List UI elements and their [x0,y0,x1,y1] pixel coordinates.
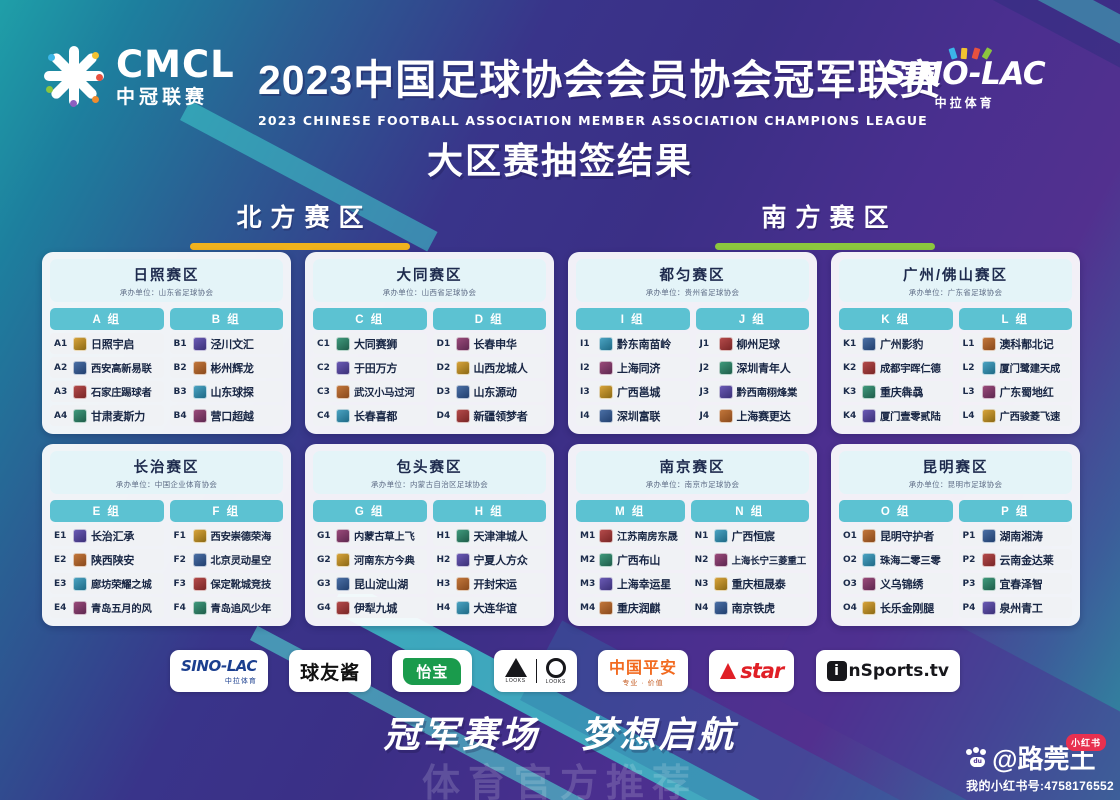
group-columns: K 组K1广州影豹K2成都宇晖仁德K3重庆犇骉K4厦门壹零贰陆L 组L1澳科郬北… [839,308,1072,426]
team-name: 重庆桓晟泰 [732,576,786,592]
team-code: D2 [437,363,452,373]
poster-title-block: 2023中国足球协会会员协会冠军联赛 2023 CHINESE FOOTBALL… [258,46,868,128]
team-crest-icon [982,409,996,423]
team-row[interactable]: D3山东源动 [433,381,547,402]
team-code: B2 [174,363,189,373]
group-header: N 组 [691,500,809,522]
team-code: E1 [54,531,69,541]
team-crest-icon [862,337,876,351]
team-name: 广西邕城 [617,384,660,400]
team-name: 广西恒宸 [732,528,775,544]
team-crest-icon [982,577,996,591]
team-name: 青岛追风少年 [211,600,272,615]
team-name: 成都宇晖仁德 [880,360,941,375]
team-code: J2 [700,363,715,373]
venue-card-header: 南京赛区承办单位：南京市足球协会 [576,451,809,494]
team-code: L4 [963,411,978,421]
team-name: 山东源动 [474,384,517,400]
team-crest-icon [862,385,876,399]
venue-host-label: 承办单位：中国企业体育协会 [54,479,279,490]
team-name: 大同赛狮 [354,336,397,352]
group-columns: E 组E1长治汇承E2陕西陕安E3廊坊荣耀之城E4青岛五月的风F 组F1西安崇德… [50,500,283,618]
team-name: 长春申华 [474,336,517,352]
group-header: I 组 [576,308,690,330]
team-crest-icon [456,553,470,567]
team-name: 江苏南房东晟 [617,528,678,543]
team-name: 重庆润麒 [617,600,660,616]
team-code: G2 [317,555,332,565]
team-row[interactable]: H2宁夏人方众 [433,549,547,570]
team-name: 开封宋运 [474,576,517,592]
team-row[interactable]: M1江苏南房东晟 [576,525,685,546]
team-name: 上海幸运星 [617,576,671,592]
venue-title: 都匀赛区 [580,264,805,285]
watermark-account: 我的小红书号:4758176552 [966,777,1114,794]
team-row[interactable]: N4南京铁虎 [691,597,809,618]
team-row[interactable]: N1广西恒宸 [691,525,809,546]
team-name: 营口超越 [211,408,254,424]
team-code: H1 [437,531,452,541]
group-header: G 组 [313,500,427,522]
team-crest-icon [719,361,733,375]
group-column: J 组J1柳州足球J2深圳青年人J3黔西南栩烽棠J4上海赛更达 [696,308,810,426]
team-code: L2 [963,363,978,373]
team-name: 西安高新易联 [91,360,152,375]
team-crest-icon [193,361,207,375]
team-code: K4 [843,411,858,421]
team-code: J4 [700,411,715,421]
team-crest-icon [982,553,996,567]
team-row[interactable]: J4上海赛更达 [696,405,810,426]
team-name: 柳州足球 [737,336,780,352]
sponsor-logo-pingan[interactable]: 中国平安 专业 · 价值 [598,650,688,692]
group-header: H 组 [433,500,547,522]
team-crest-icon [599,361,613,375]
group-column: P 组P1湖南湘涛P2云南金达莱P3宜春泽智P4泉州青工 [959,500,1073,618]
team-name: 石家庄踢球者 [91,384,152,399]
team-code: H4 [437,603,452,613]
team-code: G4 [317,603,332,613]
sponsor-pingan-tagline: 专业 · 价值 [609,678,677,688]
group-header: E 组 [50,500,164,522]
team-name: 上海长宁三菱重工 [732,553,806,567]
poster-header: CMCL 中冠联赛 2023中国足球协会会员协会冠军联赛 2023 CHINES… [0,0,1120,128]
team-row[interactable]: P4泉州青工 [959,597,1073,618]
team-name: 长治汇承 [91,528,134,544]
team-name: 河南东方今典 [354,552,415,567]
team-code: A4 [54,411,69,421]
sponsor-logo-looks[interactable]: LOOKS LOOKS [494,650,577,692]
team-name: 厦门鹭建天成 [1000,360,1061,375]
team-row[interactable]: O2珠海二零三零 [839,549,953,570]
cmcl-league-logo: CMCL 中冠联赛 [42,44,235,108]
team-row[interactable]: E3廊坊荣耀之城 [50,573,164,594]
ghost-text: 体育官方推荐 [0,752,1120,800]
team-code: B3 [174,387,189,397]
sponsor-qiuyoujiang-label: 球友酱 [300,658,360,685]
sponsor-logo-insports[interactable]: i nSports.tv [816,650,961,692]
team-crest-icon [456,385,470,399]
team-code: E2 [54,555,69,565]
team-row[interactable]: K4厦门壹零贰陆 [839,405,953,426]
venue-card-header: 昆明赛区承办单位：昆明市足球协会 [839,451,1072,494]
team-code: P3 [963,579,978,589]
team-crest-icon [73,601,87,615]
team-code: O3 [843,579,858,589]
venue-card: 包头赛区承办单位：内蒙古自治区足球协会G 组G1内蒙古草上飞G2河南东方今典G3… [305,444,554,626]
team-name: 黔西南栩烽棠 [737,384,798,399]
team-row[interactable]: L1澳科郬北记 [959,333,1073,354]
region-underline-north [190,243,410,250]
team-name: 新疆领梦者 [474,408,528,424]
group-column: E 组E1长治汇承E2陕西陕安E3廊坊荣耀之城E4青岛五月的风 [50,500,164,618]
venue-card-header: 都匀赛区承办单位：贵州省足球协会 [576,259,809,302]
team-row[interactable]: L3广东蜀地红 [959,381,1073,402]
team-row[interactable]: O3义乌锦绣 [839,573,953,594]
team-row[interactable]: H3开封宋运 [433,573,547,594]
team-name: 宜春泽智 [1000,576,1043,592]
paw-icon: du [966,749,988,767]
team-name: 宁夏人方众 [474,552,528,568]
team-crest-icon [336,529,350,543]
team-crest-icon [456,577,470,591]
team-code: I3 [580,387,595,397]
team-code: M3 [580,579,595,589]
team-crest-icon [862,361,876,375]
venue-grid: 日照赛区承办单位：山东省足球协会A 组A1日照宇启A2西安高新易联A3石家庄踢球… [42,252,1080,626]
team-code: D3 [437,387,452,397]
team-crest-icon [336,409,350,423]
team-name: 黔东南苗岭 [617,336,671,352]
team-crest-icon [599,529,613,543]
team-code: H3 [437,579,452,589]
team-row[interactable]: B1泾川文汇 [170,333,284,354]
team-crest-icon [982,529,996,543]
team-code: A1 [54,339,69,349]
team-row[interactable]: M4重庆润麒 [576,597,685,618]
team-row[interactable]: P2云南金达莱 [959,549,1073,570]
sponsor-sino-en: SINO-LAC [181,657,257,675]
sponsor-sino-cn: 中拉体育 [181,676,257,686]
venue-host-label: 承办单位：南京市足球协会 [580,479,805,490]
group-columns: A 组A1日照宇启A2西安高新易联A3石家庄踢球者A4甘肃麦斯力B 组B1泾川文… [50,308,283,426]
team-name: 陕西陕安 [91,552,134,568]
team-name: 广西骏菱飞速 [1000,408,1061,423]
team-crest-icon [193,385,207,399]
group-header: J 组 [696,308,810,330]
sponsor-pingan-label: 中国平安 [609,654,677,678]
team-row[interactable]: G1内蒙古草上飞 [313,525,427,546]
team-crest-icon [714,577,728,591]
team-name: 北京灵动星空 [211,552,272,567]
group-header: A 组 [50,308,164,330]
team-code: B4 [174,411,189,421]
group-column: A 组A1日照宇启A2西安高新易联A3石家庄踢球者A4甘肃麦斯力 [50,308,164,426]
team-code: I1 [580,339,595,349]
group-columns: G 组G1内蒙古草上飞G2河南东方今典G3昆山淀山湖G4伊犁九城H 组H1天津津… [313,500,546,618]
team-row[interactable]: C2于田万方 [313,357,427,378]
team-row[interactable]: O4长乐金刚腿 [839,597,953,618]
team-row[interactable]: F4青岛追风少年 [170,597,284,618]
team-row[interactable]: P3宜春泽智 [959,573,1073,594]
venue-host-label: 承办单位：贵州省足球协会 [580,287,805,298]
team-crest-icon [336,337,350,351]
team-row[interactable]: I1黔东南苗岭 [576,333,690,354]
group-columns: I 组I1黔东南苗岭I2上海同济I3广西邕城I4深圳富联J 组J1柳州足球J2深… [576,308,809,426]
team-row[interactable]: C3武汉小马过河 [313,381,427,402]
sponsor-yibao-label: 怡宝 [403,658,461,685]
team-row[interactable]: F1西安崇德荣海 [170,525,284,546]
team-row[interactable]: B4营口超越 [170,405,284,426]
region-title-north: 北方赛区 [160,198,440,250]
sino-lac-name-cn: 中拉体育 [884,94,1045,111]
team-crest-icon [599,409,613,423]
team-row[interactable]: A4甘肃麦斯力 [50,405,164,426]
team-name: 武汉小马过河 [354,384,415,399]
region-label-north: 北方赛区 [160,198,440,234]
group-header: F 组 [170,500,284,522]
group-column: O 组O1昆明守护者O2珠海二零三零O3义乌锦绣O4长乐金刚腿 [839,500,953,618]
team-name: 湖南湘涛 [1000,528,1043,544]
team-row[interactable]: J1柳州足球 [696,333,810,354]
venue-title: 广州/佛山赛区 [843,264,1068,285]
sponsor-logo-qiuyoujiang[interactable]: 球友酱 [289,650,371,692]
venue-card-header: 广州/佛山赛区承办单位：广东省足球协会 [839,259,1072,302]
venue-card-header: 包头赛区承办单位：内蒙古自治区足球协会 [313,451,546,494]
team-crest-icon [73,409,87,423]
group-column: C 组C1大同赛狮C2于田万方C3武汉小马过河C4长春喜都 [313,308,427,426]
team-row[interactable]: L2厦门鹭建天成 [959,357,1073,378]
team-row[interactable]: B2彬州辉龙 [170,357,284,378]
team-row[interactable]: D1长春申华 [433,333,547,354]
team-code: O4 [843,603,858,613]
team-crest-icon [862,529,876,543]
team-name: 天津津城人 [474,528,528,544]
team-row[interactable]: K2成都宇晖仁德 [839,357,953,378]
team-code: O2 [843,555,858,565]
venue-card: 南京赛区承办单位：南京市足球协会M 组M1江苏南房东晟M2广西布山M3上海幸运星… [568,444,817,626]
team-crest-icon [336,577,350,591]
team-crest-icon [73,553,87,567]
venue-host-label: 承办单位：山东省足球协会 [54,287,279,298]
team-name: 内蒙古草上飞 [354,528,415,543]
cmcl-abbr: CMCL [116,46,235,83]
team-name: 南京铁虎 [732,600,775,616]
team-code: E3 [54,579,69,589]
team-name: 广东蜀地红 [1000,384,1054,400]
venue-card-header: 大同赛区承办单位：山西省足球协会 [313,259,546,302]
team-row[interactable]: M2广西布山 [576,549,685,570]
team-row[interactable]: I2上海同济 [576,357,690,378]
group-column: K 组K1广州影豹K2成都宇晖仁德K3重庆犇骉K4厦门壹零贰陆 [839,308,953,426]
team-code: F1 [174,531,189,541]
team-name: 澳科郬北记 [1000,336,1054,352]
team-crest-icon [456,409,470,423]
team-crest-icon [336,361,350,375]
sponsor-bar: SINO-LAC 中拉体育 球友酱 怡宝 LOOKS LOOKS 中国平安 专业 [170,650,960,692]
team-row[interactable]: O1昆明守护者 [839,525,953,546]
team-row[interactable]: I4深圳富联 [576,405,690,426]
team-row[interactable]: E2陕西陕安 [50,549,164,570]
team-code: L3 [963,387,978,397]
team-row[interactable]: A2西安高新易联 [50,357,164,378]
venue-title: 大同赛区 [317,264,542,285]
team-name: 青岛五月的风 [91,600,152,615]
group-header: P 组 [959,500,1073,522]
venue-card: 长治赛区承办单位：中国企业体育协会E 组E1长治汇承E2陕西陕安E3廊坊荣耀之城… [42,444,291,626]
team-name: 大连华谊 [474,600,517,616]
group-header: C 组 [313,308,427,330]
sino-lac-wordmark: SINO-LAC [884,56,1045,92]
team-name: 泉州青工 [1000,600,1043,616]
team-name: 廊坊荣耀之城 [91,576,152,591]
flower-burst-icon [42,44,106,108]
team-code: N1 [695,531,710,541]
venue-card-header: 日照赛区承办单位：山东省足球协会 [50,259,283,302]
team-name: 上海赛更达 [737,408,791,424]
team-crest-icon [862,577,876,591]
venue-host-label: 承办单位：广东省足球协会 [843,287,1068,298]
team-code: A2 [54,363,69,373]
team-row[interactable]: D2山西龙城人 [433,357,547,378]
venue-card-header: 长治赛区承办单位：中国企业体育协会 [50,451,283,494]
team-name: 重庆犇骉 [880,384,923,400]
team-row[interactable]: N3重庆桓晟泰 [691,573,809,594]
team-crest-icon [456,361,470,375]
team-name: 昆明守护者 [880,528,934,544]
slogan-part2: 梦想启航 [581,714,737,755]
team-code: M4 [580,603,595,613]
team-crest-icon [193,601,207,615]
team-code: I2 [580,363,595,373]
team-code: H2 [437,555,452,565]
team-crest-icon [73,577,87,591]
team-code: D4 [437,411,452,421]
team-crest-icon [336,601,350,615]
team-name: 厦门壹零贰陆 [880,408,941,423]
team-row[interactable]: G3昆山淀山湖 [313,573,427,594]
team-row[interactable]: C4长春喜都 [313,405,427,426]
team-crest-icon [193,553,207,567]
team-row[interactable]: E4青岛五月的风 [50,597,164,618]
group-column: H 组H1天津津城人H2宁夏人方众H3开封宋运H4大连华谊 [433,500,547,618]
team-code: G1 [317,531,332,541]
team-name: 伊犁九城 [354,600,397,616]
group-header: O 组 [839,500,953,522]
team-row[interactable]: J3黔西南栩烽棠 [696,381,810,402]
team-crest-icon [456,601,470,615]
sponsor-logo-star[interactable]: star [709,650,794,692]
team-code: J1 [700,339,715,349]
team-name: 甘肃麦斯力 [91,408,145,424]
team-crest-icon [719,337,733,351]
team-crest-icon [982,337,996,351]
team-row[interactable]: G4伊犁九城 [313,597,427,618]
team-crest-icon [73,529,87,543]
team-crest-icon [336,553,350,567]
group-columns: C 组C1大同赛狮C2于田万方C3武汉小马过河C4长春喜都D 组D1长春申华D2… [313,308,546,426]
group-header: K 组 [839,308,953,330]
team-row[interactable]: C1大同赛狮 [313,333,427,354]
league-title-en: 2023 CHINESE FOOTBALL ASSOCIATION MEMBER… [258,113,868,128]
team-row[interactable]: A1日照宇启 [50,333,164,354]
slogan-part1: 冠军赛场 [383,714,539,755]
team-row[interactable]: K3重庆犇骉 [839,381,953,402]
region-title-south: 南方赛区 [685,198,965,250]
team-name: 珠海二零三零 [880,552,941,567]
region-label-south: 南方赛区 [685,198,965,234]
team-code: M2 [580,555,595,565]
team-row[interactable]: D4新疆领梦者 [433,405,547,426]
team-row[interactable]: H1天津津城人 [433,525,547,546]
team-row[interactable]: F2北京灵动星空 [170,549,284,570]
group-header: D 组 [433,308,547,330]
team-code: J3 [700,387,715,397]
team-code: L1 [963,339,978,349]
group-header: B 组 [170,308,284,330]
team-row[interactable]: E1长治汇承 [50,525,164,546]
team-crest-icon [719,409,733,423]
team-name: 山东球探 [211,384,254,400]
group-columns: O 组O1昆明守护者O2珠海二零三零O3义乌锦绣O4长乐金刚腿P 组P1湖南湘涛… [839,500,1072,618]
team-crest-icon [193,337,207,351]
team-crest-icon [862,553,876,567]
team-row[interactable]: F3保定靴城竞技 [170,573,284,594]
team-code: A3 [54,387,69,397]
team-name: 彬州辉龙 [211,360,254,376]
team-row[interactable]: G2河南东方今典 [313,549,427,570]
team-row[interactable]: J2深圳青年人 [696,357,810,378]
team-crest-icon [336,385,350,399]
team-crest-icon [599,385,613,399]
team-code: F2 [174,555,189,565]
venue-host-label: 承办单位：山西省足球协会 [317,287,542,298]
team-name: 深圳富联 [617,408,660,424]
team-crest-icon [73,385,87,399]
team-crest-icon [982,361,996,375]
team-row[interactable]: H4大连华谊 [433,597,547,618]
team-code: D1 [437,339,452,349]
insports-mark-icon: i [827,661,847,681]
team-code: M1 [580,531,595,541]
team-row[interactable]: B3山东球探 [170,381,284,402]
group-column: N 组N1广西恒宸N2上海长宁三菱重工N3重庆桓晟泰N4南京铁虎 [691,500,809,618]
team-code: P4 [963,603,978,613]
sponsor-logo-yibao[interactable]: 怡宝 [392,650,472,692]
page-title: 大区赛抽签结果 [0,132,1120,184]
team-row[interactable]: K1广州影豹 [839,333,953,354]
team-code: C1 [317,339,332,349]
region-underline-south [715,243,935,250]
group-column: I 组I1黔东南苗岭I2上海同济I3广西邕城I4深圳富联 [576,308,690,426]
team-name: 长乐金刚腿 [880,600,934,616]
team-row[interactable]: N2上海长宁三菱重工 [691,549,809,570]
venue-card: 都匀赛区承办单位：贵州省足球协会I 组I1黔东南苗岭I2上海同济I3广西邕城I4… [568,252,817,434]
team-row[interactable]: A3石家庄踢球者 [50,381,164,402]
team-row[interactable]: L4广西骏菱飞速 [959,405,1073,426]
team-crest-icon [714,553,728,567]
team-crest-icon [599,337,613,351]
team-crest-icon [73,337,87,351]
team-row[interactable]: P1湖南湘涛 [959,525,1073,546]
team-row[interactable]: M3上海幸运星 [576,573,685,594]
sponsor-logo-sino-lac[interactable]: SINO-LAC 中拉体育 [170,650,268,692]
team-row[interactable]: I3广西邕城 [576,381,690,402]
poster-root: CMCL 中冠联赛 2023中国足球协会会员协会冠军联赛 2023 CHINES… [0,0,1120,800]
team-code: C4 [317,411,332,421]
team-crest-icon [714,529,728,543]
venue-host-label: 承办单位：内蒙古自治区足球协会 [317,479,542,490]
